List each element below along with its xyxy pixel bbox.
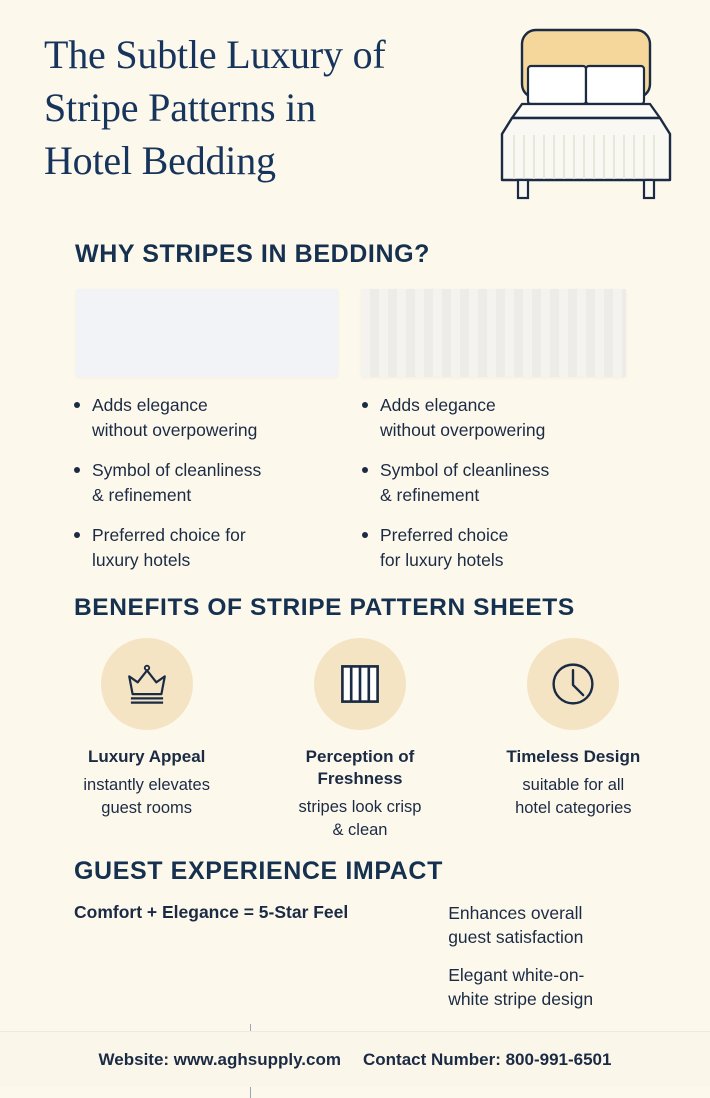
title-line-1: The Subtle Luxury of (44, 28, 474, 81)
why-bullets-right: Adds elegance without overpowering Symbo… (362, 393, 642, 587)
footer-website[interactable]: Website: www.aghsupply.com (99, 1050, 341, 1070)
comfort-equation: Comfort + Elegance = 5-Star Feel (74, 901, 436, 924)
list-item: Adds elegance without overpowering (362, 393, 642, 444)
benefit-description: suitable for all hotel categories (515, 774, 632, 820)
guest-right-column: Enhances overall guest satisfaction Eleg… (436, 901, 642, 1012)
benefit-item-timeless-design: Timeless Design suitable for all hotel c… (467, 638, 680, 842)
benefits-heading: BENEFITS OF STRIPE PATTERN SHEETS (74, 594, 575, 622)
guest-note-stripe-design: Elegant white-on- white stripe design (448, 963, 642, 1011)
bullet-text: Adds elegance without overpowering (380, 393, 545, 444)
bullet-text: Preferred choice for luxury hotels (380, 523, 508, 574)
benefit-description: stripes look crisp & clean (299, 796, 422, 842)
why-stripes-heading: WHY STRIPES IN BEDDING? (75, 240, 430, 269)
benefit-title: Perception of Freshness (306, 746, 415, 790)
benefit-title: Timeless Design (506, 746, 640, 768)
bullet-text: Symbol of cleanliness & refinement (92, 458, 261, 509)
list-item: Symbol of cleanliness & refinement (74, 458, 354, 509)
guest-experience-heading: GUEST EXPERIENCE IMPACT (74, 857, 443, 886)
bed-illustration (464, 22, 702, 202)
bullet-dot-icon (74, 532, 80, 538)
bullet-dot-icon (74, 402, 80, 408)
bullet-dot-icon (362, 402, 368, 408)
plain-sheet-swatch (76, 289, 338, 377)
benefits-row: Luxury Appeal instantly elevates guest r… (40, 638, 680, 842)
list-item: Symbol of cleanliness & refinement (362, 458, 642, 509)
benefit-title: Luxury Appeal (88, 746, 205, 768)
bullet-dot-icon (362, 467, 368, 473)
why-bullets-left: Adds elegance without overpowering Symbo… (74, 393, 354, 587)
benefit-item-luxury-appeal: Luxury Appeal instantly elevates guest r… (40, 638, 253, 842)
guest-top-row: Comfort + Elegance = 5-Star Feel Enhance… (74, 901, 642, 1012)
benefit-description: instantly elevates guest rooms (83, 774, 210, 820)
title-line-2: Stripe Patterns in (44, 81, 474, 134)
benefit-item-freshness: Perception of Freshness stripes look cri… (253, 638, 466, 842)
infographic-page: The Subtle Luxury of Stripe Patterns in … (0, 0, 710, 1087)
bullet-dot-icon (362, 532, 368, 538)
list-item: Preferred choice for luxury hotels (362, 523, 642, 574)
guest-note-satisfaction: Enhances overall guest satisfaction (448, 901, 642, 949)
bullet-text: Preferred choice for luxury hotels (92, 523, 246, 574)
title-line-3: Hotel Bedding (44, 134, 474, 187)
crown-icon (101, 638, 193, 730)
bullet-text: Adds elegance without overpowering (92, 393, 257, 444)
header-section: The Subtle Luxury of Stripe Patterns in … (0, 0, 710, 212)
footer-contact[interactable]: Contact Number: 800-991-6501 (363, 1050, 611, 1070)
bullet-dot-icon (74, 467, 80, 473)
footer-bar: Website: www.aghsupply.com Contact Numbe… (0, 1031, 710, 1087)
list-item: Adds elegance without overpowering (74, 393, 354, 444)
stripes-icon (314, 638, 406, 730)
page-title: The Subtle Luxury of Stripe Patterns in … (44, 28, 474, 188)
guest-left-column: Comfort + Elegance = 5-Star Feel (74, 901, 436, 924)
bullet-text: Symbol of cleanliness & refinement (380, 458, 549, 509)
striped-sheet-swatch (361, 289, 626, 377)
list-item: Preferred choice for luxury hotels (74, 523, 354, 574)
clock-icon (527, 638, 619, 730)
